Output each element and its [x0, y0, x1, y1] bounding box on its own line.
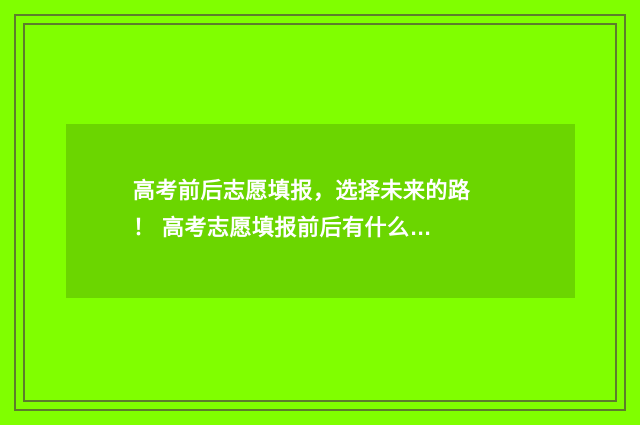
headline-text: 高考前后志愿填报，选择未来的路 ！ 高考志愿填报前后有什么… [133, 172, 533, 246]
banner-canvas: 高考前后志愿填报，选择未来的路 ！ 高考志愿填报前后有什么… [0, 0, 640, 425]
